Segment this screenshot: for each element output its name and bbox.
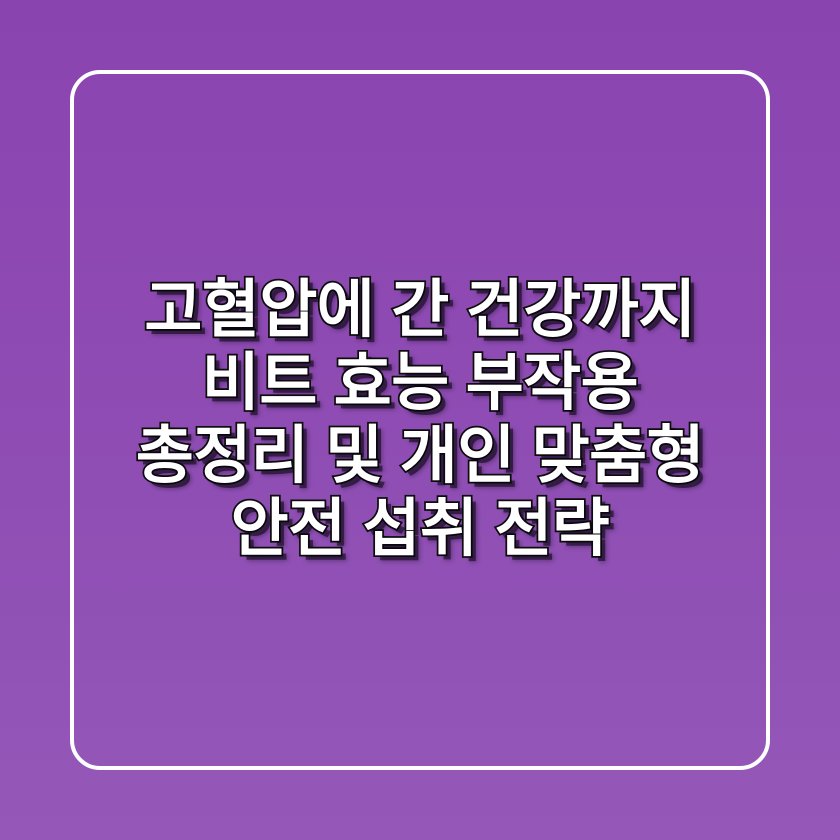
poster-canvas: 고혈압에 간 건강까지 비트 효능 부작용 총정리 및 개인 맞춤형 안전 섭취… bbox=[0, 0, 840, 840]
headline-line-4: 안전 섭취 전략 bbox=[60, 493, 780, 566]
headline-line-3: 총정리 및 개인 맞춤형 bbox=[60, 420, 780, 493]
headline-block: 고혈압에 간 건강까지 비트 효능 부작용 총정리 및 개인 맞춤형 안전 섭취… bbox=[0, 274, 840, 566]
headline-line-2: 비트 효능 부작용 bbox=[60, 347, 780, 420]
headline-line-1: 고혈압에 간 건강까지 bbox=[60, 274, 780, 347]
